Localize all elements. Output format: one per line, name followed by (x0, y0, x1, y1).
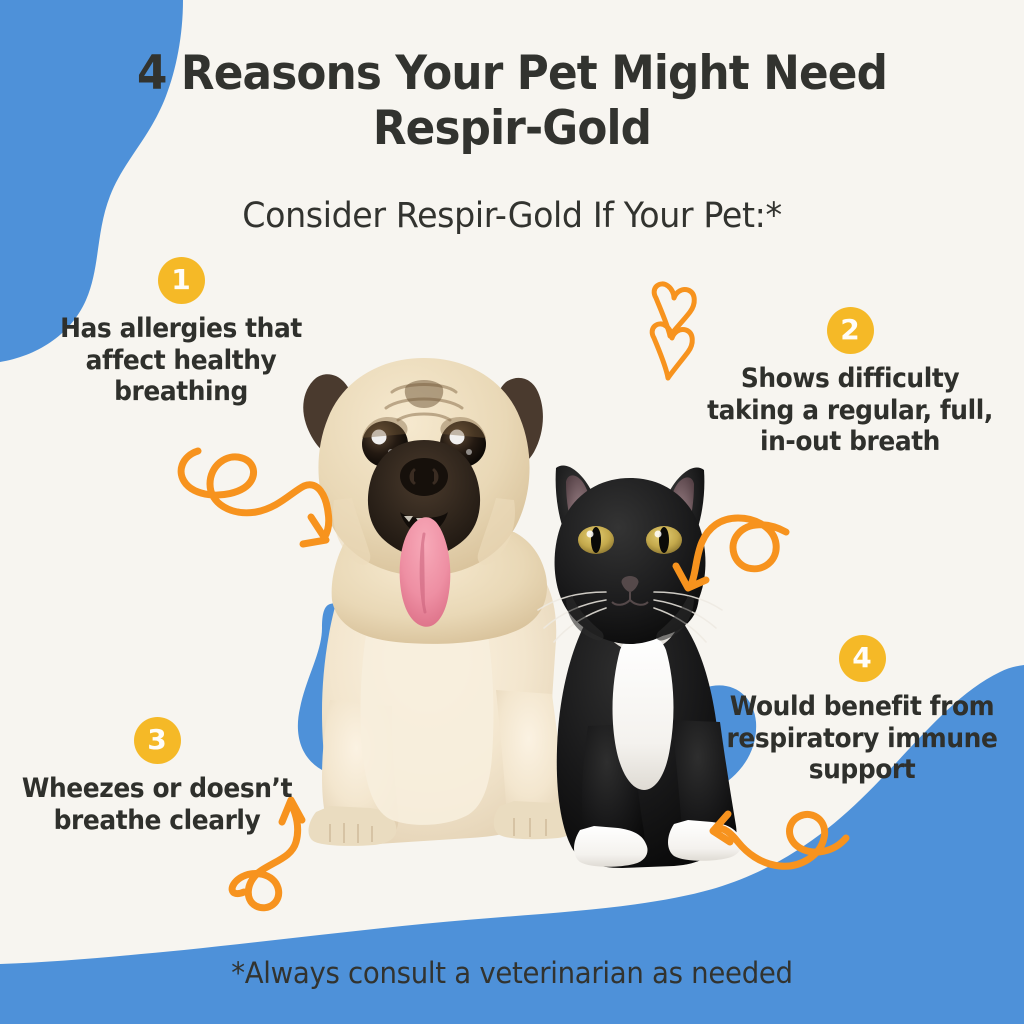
infographic-canvas: 4 Reasons Your Pet Might Need Respir-Gol… (0, 0, 1024, 1024)
heart-2-icon (652, 324, 692, 378)
callout-4-badge: 4 (839, 635, 886, 682)
arrow-1-head (303, 517, 326, 544)
heart-1-icon (654, 284, 694, 336)
callout-3-badge: 3 (134, 717, 181, 764)
callout-1-text: Has allergies that affect healthy breath… (35, 313, 326, 408)
callout-3: 3 Wheezes or doesn’t breathe clearly (2, 717, 312, 836)
arrow-2-icon (692, 518, 786, 582)
callout-1: 1 Has allergies that affect healthy brea… (26, 257, 336, 408)
page-title: 4 Reasons Your Pet Might Need Respir-Gol… (36, 46, 988, 157)
callout-4: 4 Would benefit from respiratory immune … (706, 635, 1018, 786)
title-line-1: 4 Reasons Your Pet Might Need (36, 46, 988, 101)
callout-1-badge: 1 (158, 257, 205, 304)
callout-4-text: Would benefit from respiratory immune su… (715, 691, 1008, 786)
title-line-2: Respir-Gold (36, 101, 988, 156)
callout-2-text: Shows difficulty taking a regular, full,… (701, 363, 998, 458)
arrow-1-icon (181, 451, 329, 538)
disclaimer-text: *Always consult a veterinarian as needed (26, 956, 999, 990)
callout-2-badge: 2 (827, 307, 874, 354)
callout-2: 2 Shows difficulty taking a regular, ful… (692, 307, 1008, 458)
callout-3-text: Wheezes or doesn’t breathe clearly (11, 773, 302, 836)
arrow-4-icon (718, 814, 846, 866)
page-subtitle: Consider Respir-Gold If Your Pet:* (26, 196, 999, 236)
